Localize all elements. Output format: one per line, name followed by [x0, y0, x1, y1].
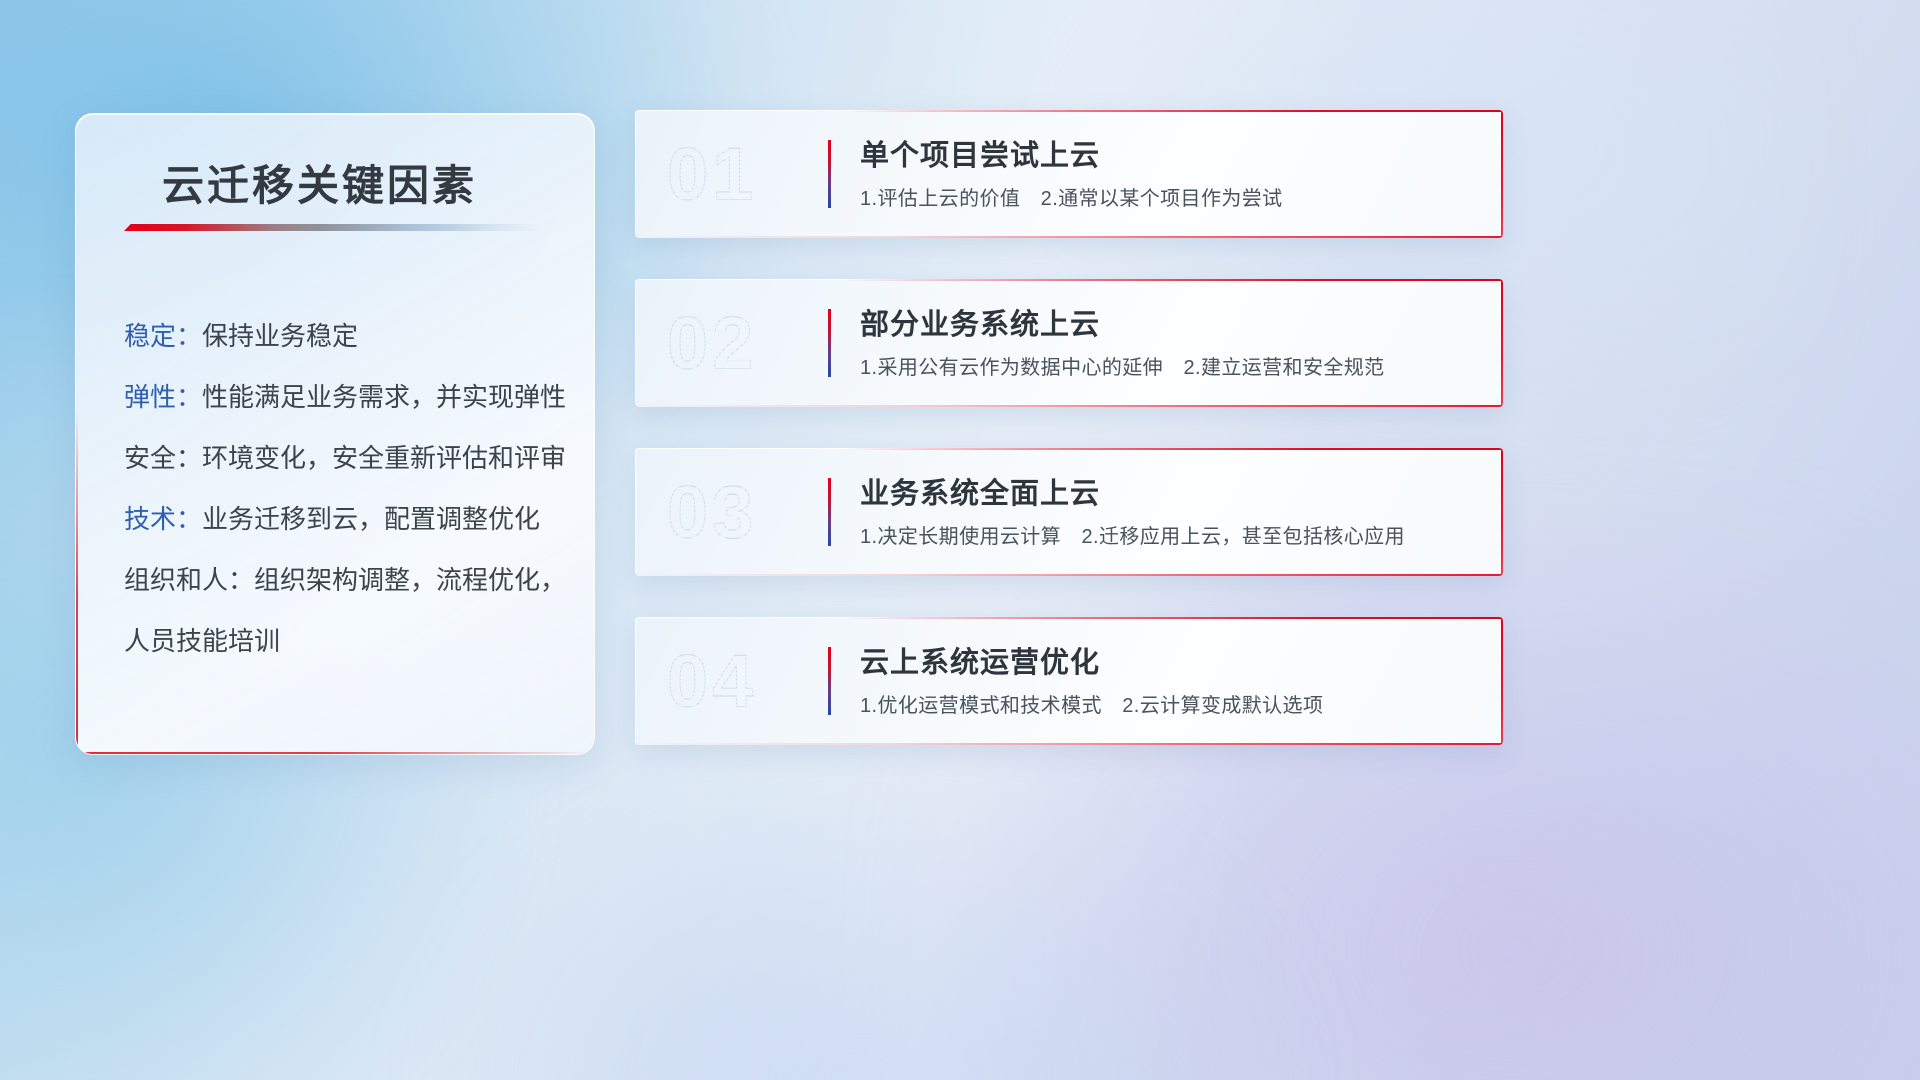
stage-number: 02: [667, 301, 757, 386]
card-left-edge: [635, 110, 636, 238]
list-item-text: 性能满足业务需求，并实现弹性: [202, 382, 566, 412]
list-item-label: 稳定：: [124, 321, 202, 351]
list-item-label: 安全：: [124, 443, 202, 473]
card-top-accent-line: [635, 110, 1503, 112]
stage-subtitle: 1.采用公有云作为数据中心的延伸 2.建立运营和安全规范: [860, 351, 1385, 380]
list-item-text: 保持业务稳定: [202, 321, 358, 351]
stage-card-01[interactable]: 01 单个项目尝试上云 1.评估上云的价值 2.通常以某个项目作为尝试: [635, 110, 1503, 238]
stage-number: 04: [667, 639, 757, 724]
list-item-text: 组织架构调整，流程优化，: [254, 565, 566, 595]
card-bottom-accent-line: [635, 236, 1503, 238]
stage-accent-bar: [828, 309, 831, 377]
card-bottom-accent-line: [635, 574, 1503, 576]
stage-card-02[interactable]: 02 部分业务系统上云 1.采用公有云作为数据中心的延伸 2.建立运营和安全规范: [635, 279, 1503, 407]
card-right-accent-line: [1501, 110, 1503, 238]
stage-subtitle: 1.优化运营模式和技术模式 2.云计算变成默认选项: [860, 689, 1323, 718]
list-item-continuation: 人员技能培训: [124, 611, 564, 672]
stage-subtitle: 1.决定长期使用云计算 2.迁移应用上云，甚至包括核心应用: [860, 520, 1405, 549]
stage-card-03[interactable]: 03 业务系统全面上云 1.决定长期使用云计算 2.迁移应用上云，甚至包括核心应…: [635, 448, 1503, 576]
card-top-accent-line: [635, 448, 1503, 450]
stage-title: 云上系统运营优化: [860, 639, 1100, 681]
list-item: 稳定：保持业务稳定: [124, 306, 564, 367]
card-top-accent-line: [635, 279, 1503, 281]
list-item: 组织和人：组织架构调整，流程优化，: [124, 550, 564, 611]
stage-accent-bar: [828, 478, 831, 546]
list-item-label: 组织和人：: [124, 565, 254, 595]
list-item: 安全：环境变化，安全重新评估和评审: [124, 428, 564, 489]
stage-title: 单个项目尝试上云: [860, 132, 1100, 174]
stage-title: 业务系统全面上云: [860, 470, 1100, 512]
panel-left-accent-edge: [76, 408, 78, 754]
stage-accent-bar: [828, 647, 831, 715]
list-item-text: 环境变化，安全重新评估和评审: [202, 443, 566, 473]
stage-number: 03: [667, 470, 757, 555]
list-item-label: 技术：: [124, 504, 202, 534]
card-bottom-accent-line: [635, 743, 1503, 745]
card-top-accent-line: [635, 617, 1503, 619]
card-left-edge: [635, 448, 636, 576]
list-item-text: 业务迁移到云，配置调整优化: [202, 504, 540, 534]
list-item-text: 人员技能培训: [124, 626, 280, 656]
stage-card-04[interactable]: 04 云上系统运营优化 1.优化运营模式和技术模式 2.云计算变成默认选项: [635, 617, 1503, 745]
stage-subtitle: 1.评估上云的价值 2.通常以某个项目作为尝试: [860, 182, 1283, 211]
list-item: 技术：业务迁移到云，配置调整优化: [124, 489, 564, 550]
panel-bottom-accent-edge: [76, 752, 594, 754]
panel-title-underline: [124, 224, 548, 231]
card-left-edge: [635, 617, 636, 745]
card-right-accent-line: [1501, 617, 1503, 745]
stage-card-list: 01 单个项目尝试上云 1.评估上云的价值 2.通常以某个项目作为尝试 02 部…: [635, 110, 1503, 786]
stage-number: 01: [667, 132, 757, 217]
stage-title: 部分业务系统上云: [860, 301, 1100, 343]
stage-accent-bar: [828, 140, 831, 208]
key-factors-list: 稳定：保持业务稳定 弹性：性能满足业务需求，并实现弹性 安全：环境变化，安全重新…: [124, 306, 564, 672]
list-item-label: 弹性：: [124, 382, 202, 412]
card-right-accent-line: [1501, 279, 1503, 407]
list-item: 弹性：性能满足业务需求，并实现弹性: [124, 367, 564, 428]
card-bottom-accent-line: [635, 405, 1503, 407]
card-left-edge: [635, 279, 636, 407]
panel-title: 云迁移关键因素: [162, 152, 477, 213]
key-factors-panel: 云迁移关键因素 稳定：保持业务稳定 弹性：性能满足业务需求，并实现弹性 安全：环…: [75, 113, 595, 755]
card-right-accent-line: [1501, 448, 1503, 576]
